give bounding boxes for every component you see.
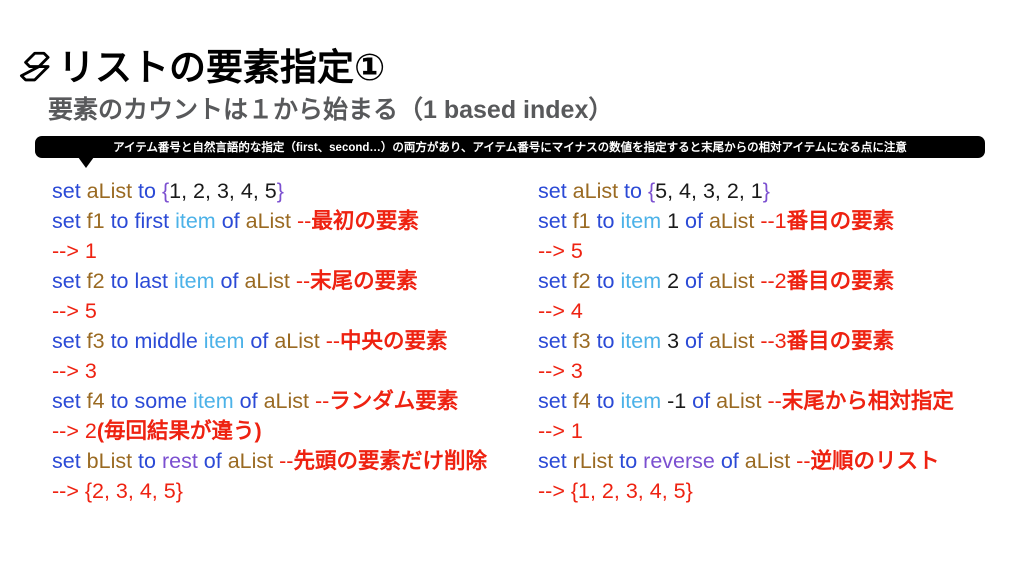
code-token: 末尾から相対指定	[782, 389, 954, 413]
code-token: --2	[760, 269, 786, 293]
code-token: of	[715, 449, 745, 473]
code-token: item	[204, 329, 245, 353]
code-token: f3	[87, 329, 105, 353]
code-token: set	[52, 269, 87, 293]
code-token: f4	[573, 389, 591, 413]
code-token: }	[763, 179, 770, 203]
code-token: 逆順のリスト	[811, 449, 940, 473]
code-token: of	[679, 269, 709, 293]
code-token: item	[174, 269, 215, 293]
code-token: of	[244, 329, 274, 353]
code-left-line: set f3 to middle item of aList --中央の要素	[52, 326, 522, 356]
code-token: --> 4	[538, 299, 583, 323]
code-token: aList	[228, 449, 273, 473]
callout-pointer-icon	[78, 157, 94, 168]
code-token: aList	[709, 269, 754, 293]
code-left-line: --> 1	[52, 236, 522, 266]
code-token: f1	[87, 209, 105, 233]
code-token: first	[134, 209, 175, 233]
code-token: set	[538, 389, 573, 413]
code-token: aList	[745, 449, 790, 473]
code-left-line: set aList to {1, 2, 3, 4, 5}	[52, 176, 522, 206]
code-right-line: set f2 to item 2 of aList --2番目の要素	[538, 266, 1018, 296]
code-token: item	[620, 389, 661, 413]
code-token: of	[679, 329, 709, 353]
code-token: }	[277, 179, 284, 203]
code-token: to	[618, 179, 648, 203]
code-token: 番目の要素	[787, 209, 895, 233]
code-token: (毎回結果が違う)	[97, 419, 262, 443]
code-left-line: --> 2(毎回結果が違う)	[52, 416, 522, 446]
code-token: --3	[760, 329, 786, 353]
code-token: 2	[661, 269, 679, 293]
code-token: aList	[246, 209, 291, 233]
code-right-line: set f3 to item 3 of aList --3番目の要素	[538, 326, 1018, 356]
code-left-line: --> 3	[52, 356, 522, 386]
code-token: f2	[87, 269, 105, 293]
code-token: --> 3	[538, 359, 583, 383]
code-right-line: set f4 to item -1 of aList --末尾から相対指定	[538, 386, 1018, 416]
code-token: --> 2	[52, 419, 97, 443]
code-token: aList	[709, 329, 754, 353]
code-right-line: --> {1, 2, 3, 4, 5}	[538, 476, 1018, 506]
code-token: of	[686, 389, 716, 413]
code-token: --> 3	[52, 359, 97, 383]
code-right-line: set rList to reverse of aList --逆順のリスト	[538, 446, 1018, 476]
code-token: aList	[244, 269, 289, 293]
code-token: set	[538, 449, 573, 473]
page-subtitle: 要素のカウントは１から始まる（1 based index）	[48, 96, 613, 125]
code-token: to	[591, 209, 621, 233]
code-token: aList	[87, 179, 132, 203]
code-token: of	[198, 449, 228, 473]
code-token: --> {1, 2, 3, 4, 5}	[538, 479, 693, 503]
code-token: 番目の要素	[787, 329, 895, 353]
code-token: reverse	[643, 449, 715, 473]
code-token: of	[215, 269, 245, 293]
code-token: rest	[162, 449, 198, 473]
code-left-line: set f4 to some item of aList --ランダム要素	[52, 386, 522, 416]
code-token: item	[193, 389, 234, 413]
code-token: to	[132, 179, 162, 203]
code-token: of	[216, 209, 246, 233]
code-right-line: set f1 to item 1 of aList --1番目の要素	[538, 206, 1018, 236]
code-right-line: --> 5	[538, 236, 1018, 266]
code-token: of	[234, 389, 264, 413]
code-token: 3	[661, 329, 679, 353]
code-token: set	[52, 449, 87, 473]
code-token: set	[52, 389, 87, 413]
code-token: ランダム要素	[329, 389, 458, 413]
code-token: 5, 4, 3, 2, 1	[655, 179, 763, 203]
code-token: to	[105, 389, 135, 413]
code-token: set	[538, 179, 573, 203]
code-right-line: --> 3	[538, 356, 1018, 386]
code-token: item	[620, 209, 661, 233]
code-token: aList	[274, 329, 319, 353]
code-token: --> 5	[538, 239, 583, 263]
code-left-line: set bList to rest of aList --先頭の要素だけ削除	[52, 446, 522, 476]
code-token: --	[297, 209, 311, 233]
code-token: item	[620, 269, 661, 293]
code-token: --	[296, 269, 310, 293]
code-token: f4	[87, 389, 105, 413]
code-right-line: --> 1	[538, 416, 1018, 446]
code-token: to	[105, 329, 135, 353]
code-token: middle	[134, 329, 203, 353]
code-token: --> 5	[52, 299, 97, 323]
code-token: 1, 2, 3, 4, 5	[169, 179, 277, 203]
code-token: set	[52, 209, 87, 233]
slanted-s-logo-icon	[16, 47, 56, 87]
callout-text: アイテム番号と自然言語的な指定（first、second…）の両方があり、アイテ…	[113, 139, 907, 155]
code-token: set	[52, 179, 87, 203]
code-token: --	[796, 449, 810, 473]
code-token: to	[591, 269, 621, 293]
callout-banner: アイテム番号と自然言語的な指定（first、second…）の両方があり、アイテ…	[35, 136, 985, 158]
code-token: to	[105, 269, 135, 293]
code-token: to	[591, 329, 621, 353]
code-token: --	[279, 449, 293, 473]
code-token: --	[315, 389, 329, 413]
code-token: set	[538, 269, 573, 293]
code-left-line: --> 5	[52, 296, 522, 326]
code-token: aList	[264, 389, 309, 413]
code-token: --> 1	[52, 239, 97, 263]
code-token: set	[538, 209, 573, 233]
code-token: 中央の要素	[340, 329, 448, 353]
title-row: リストの要素指定①	[16, 42, 385, 92]
code-token: item	[175, 209, 216, 233]
code-token: set	[52, 329, 87, 353]
code-column-right: set aList to {5, 4, 3, 2, 1}set f1 to it…	[538, 176, 1018, 506]
code-token: 番目の要素	[787, 269, 895, 293]
code-token: --1	[760, 209, 786, 233]
code-token: some	[134, 389, 193, 413]
code-token: f2	[573, 269, 591, 293]
code-token: of	[679, 209, 709, 233]
code-token: aList	[716, 389, 761, 413]
code-left-line: set f1 to first item of aList --最初の要素	[52, 206, 522, 236]
code-token: rList	[573, 449, 614, 473]
code-token: to	[591, 389, 621, 413]
code-right-line: --> 4	[538, 296, 1018, 326]
code-token: 1	[661, 209, 679, 233]
code-token: to	[132, 449, 162, 473]
code-left-line: --> {2, 3, 4, 5}	[52, 476, 522, 506]
page-title: リストの要素指定①	[58, 49, 385, 86]
code-token: -1	[661, 389, 686, 413]
code-token: to	[105, 209, 135, 233]
code-token: 末尾の要素	[310, 269, 418, 293]
code-right-line: set aList to {5, 4, 3, 2, 1}	[538, 176, 1018, 206]
code-token: aList	[709, 209, 754, 233]
code-token: aList	[573, 179, 618, 203]
code-token: set	[538, 329, 573, 353]
code-column-left: set aList to {1, 2, 3, 4, 5}set f1 to fi…	[52, 176, 522, 506]
code-token: --	[326, 329, 340, 353]
code-token: item	[620, 329, 661, 353]
code-token: 最初の要素	[311, 209, 419, 233]
code-area: set aList to {1, 2, 3, 4, 5}set f1 to fi…	[0, 176, 1024, 536]
code-token: f1	[573, 209, 591, 233]
code-token: bList	[87, 449, 132, 473]
code-token: --> {2, 3, 4, 5}	[52, 479, 183, 503]
code-left-line: set f2 to last item of aList --末尾の要素	[52, 266, 522, 296]
code-token: --> 1	[538, 419, 583, 443]
code-token: to	[613, 449, 643, 473]
code-token: --	[768, 389, 782, 413]
code-token: f3	[573, 329, 591, 353]
code-token: last	[134, 269, 173, 293]
code-token: 先頭の要素だけ削除	[293, 449, 487, 473]
